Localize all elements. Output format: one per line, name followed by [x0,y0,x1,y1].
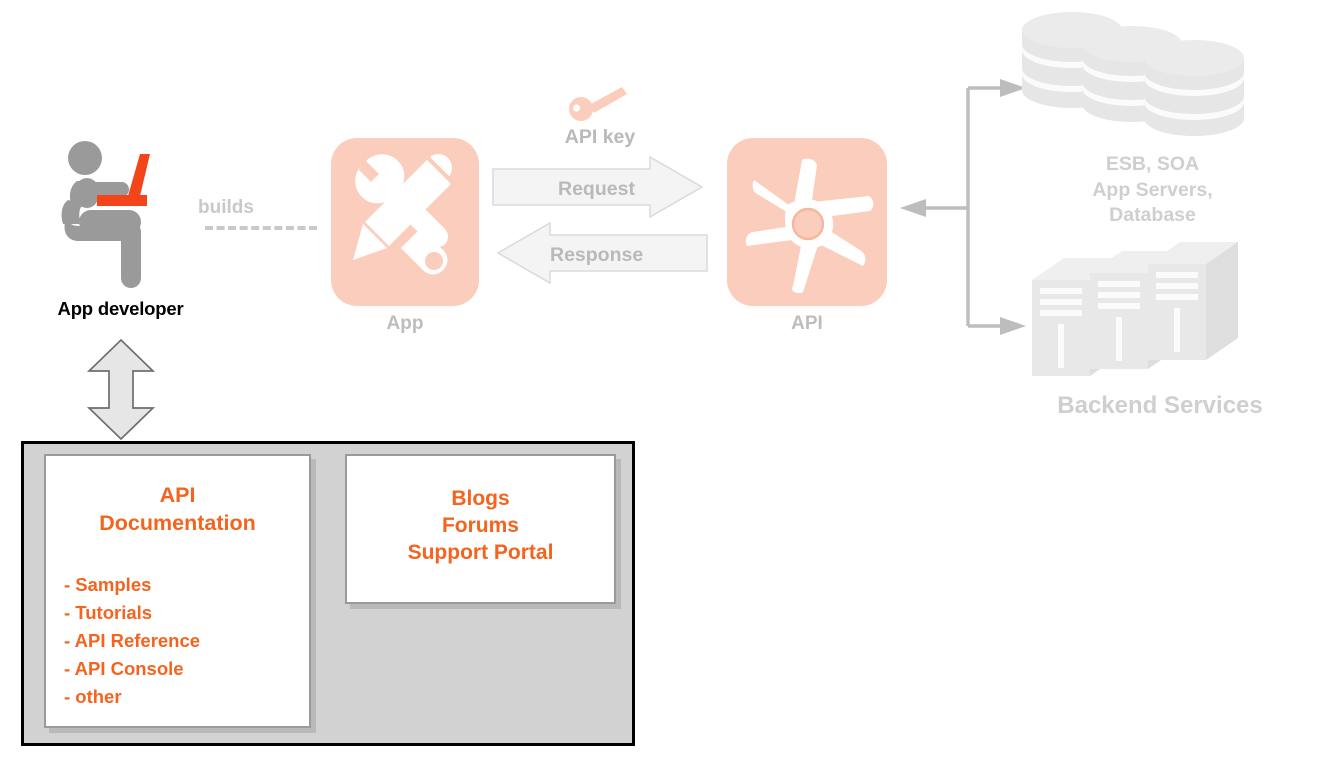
community-card[interactable]: Blogs Forums Support Portal [345,454,616,604]
api-key-label: API key [520,126,680,149]
community-title-line-2: Forums [347,513,614,540]
builds-label: builds [198,197,318,219]
database-stack-icon [1022,12,1272,142]
backend-services-label: Backend Services [1010,392,1310,420]
key-icon [568,84,630,122]
api-documentation-card[interactable]: API Documentation - Samples - Tutorials … [44,454,311,728]
developer-portal-panel: API Documentation - Samples - Tutorials … [21,441,635,746]
request-label: Request [558,178,635,201]
server-racks-icon [1032,240,1262,380]
diagram-canvas: App developer builds App [0,0,1338,770]
docs-title-line-2: Documentation [46,510,309,538]
middleware-label-line-2: App Servers, [1030,178,1275,204]
wrench-and-pencil-icon [331,138,479,306]
list-item[interactable]: - API Reference [64,627,309,655]
list-item[interactable]: - API Console [64,655,309,683]
middleware-label: ESB, SOA App Servers, Database [1030,152,1275,229]
response-label: Response [550,244,643,267]
app-label: App [331,313,479,335]
list-item[interactable]: - Samples [64,571,309,599]
middleware-label-line-3: Database [1030,203,1275,229]
developer-label: App developer [18,298,223,320]
community-title-line-1: Blogs [347,486,614,513]
api-documentation-card-title: API Documentation [46,482,309,537]
seated-developer-with-laptop-icon [55,140,185,295]
community-card-title: Blogs Forums Support Portal [347,486,614,567]
docs-title-line-1: API [46,482,309,510]
api-documentation-item-list: - Samples - Tutorials - API Reference - … [64,571,309,712]
community-title-line-3: Support Portal [347,540,614,567]
api-label: API [727,313,887,335]
api-starburst-icon [727,138,887,306]
app-tile[interactable] [331,138,479,306]
middleware-label-line-1: ESB, SOA [1030,152,1275,178]
api-tile[interactable] [727,138,887,306]
builds-dashed-connector [205,226,317,230]
vertical-double-arrow-icon [85,338,157,441]
list-item[interactable]: - Tutorials [64,599,309,627]
list-item[interactable]: - other [64,683,309,711]
